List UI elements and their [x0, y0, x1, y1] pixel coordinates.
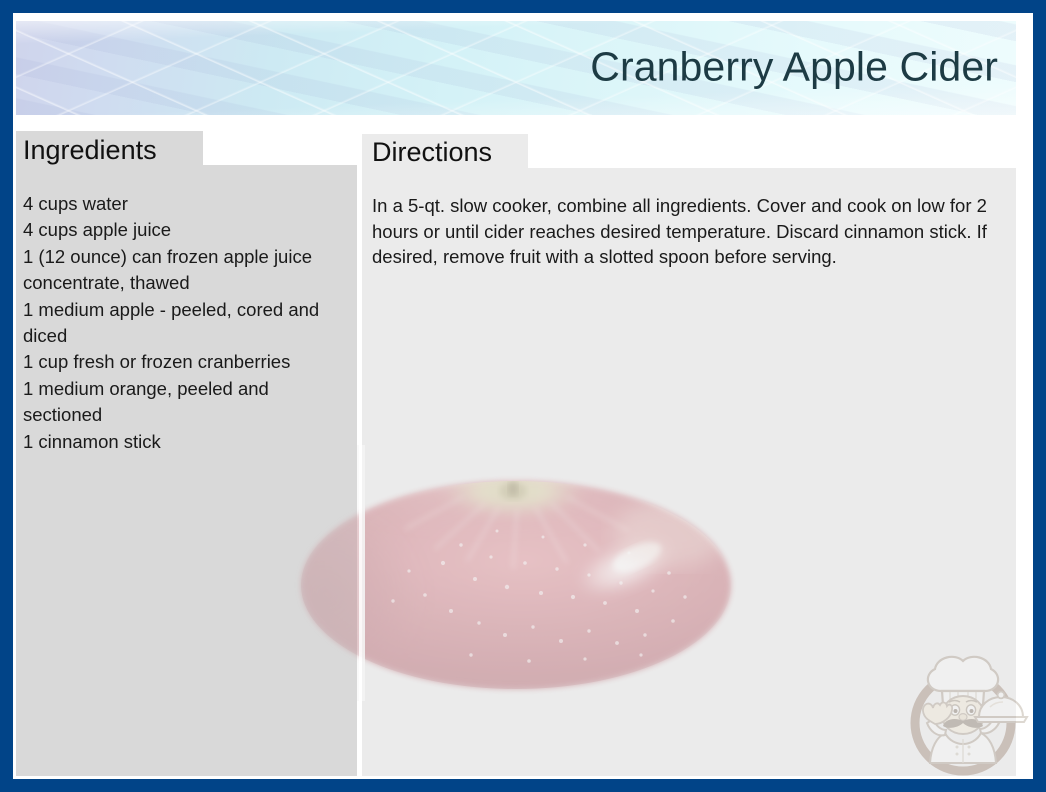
ingredients-heading: Ingredients	[23, 137, 157, 164]
recipe-card: Cranberry Apple Cider Ingredients 4 cups…	[0, 0, 1046, 792]
title-banner: Cranberry Apple Cider	[16, 21, 1016, 115]
ingredients-list: 4 cups water 4 cups apple juice 1 (12 ou…	[23, 191, 348, 455]
directions-heading: Directions	[372, 139, 492, 166]
page-title: Cranberry Apple Cider	[590, 47, 998, 88]
directions-text: In a 5-qt. slow cooker, combine all ingr…	[372, 193, 1009, 270]
recipe-page: Cranberry Apple Cider Ingredients 4 cups…	[13, 13, 1033, 779]
